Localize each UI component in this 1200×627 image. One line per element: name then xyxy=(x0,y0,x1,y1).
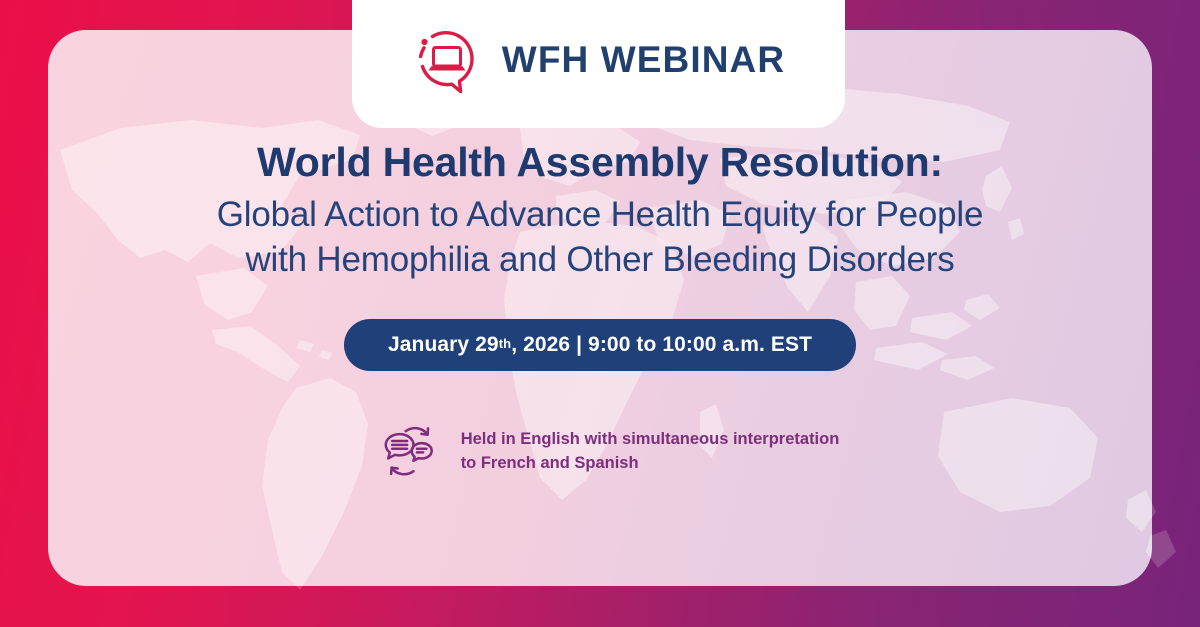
event-time-text: , 2026 | 9:00 to 10:00 a.m. EST xyxy=(511,334,812,355)
language-note-line-1: Held in English with simultaneous interp… xyxy=(461,428,840,451)
logo-wordmark: WFH WEBINAR xyxy=(502,41,785,78)
event-datetime-badge: January 29th, 2026 | 9:00 to 10:00 a.m. … xyxy=(344,319,856,371)
language-note-text: Held in English with simultaneous interp… xyxy=(461,428,840,475)
wfh-webinar-logo-badge: WFH WEBINAR xyxy=(352,0,845,128)
translation-speech-bubbles-icon xyxy=(379,421,441,483)
event-date-text: January 29 xyxy=(388,334,499,355)
subtitle-line-2: with Hemophilia and Other Bleeding Disor… xyxy=(70,237,1130,283)
subtitle-line-1: Global Action to Advance Health Equity f… xyxy=(70,192,1130,238)
language-note-line-2: to French and Spanish xyxy=(461,452,840,475)
banner-content: World Health Assembly Resolution: Global… xyxy=(0,140,1200,483)
page-title: World Health Assembly Resolution: xyxy=(70,140,1130,186)
language-note: Held in English with simultaneous interp… xyxy=(70,421,1130,483)
page-subtitle: Global Action to Advance Health Equity f… xyxy=(70,192,1130,283)
date-pill-row: January 29th, 2026 | 9:00 to 10:00 a.m. … xyxy=(70,319,1130,371)
webinar-speech-bubble-laptop-icon xyxy=(412,23,484,95)
webinar-promo-banner: WFH WEBINAR World Health Assembly Resolu… xyxy=(0,0,1200,627)
